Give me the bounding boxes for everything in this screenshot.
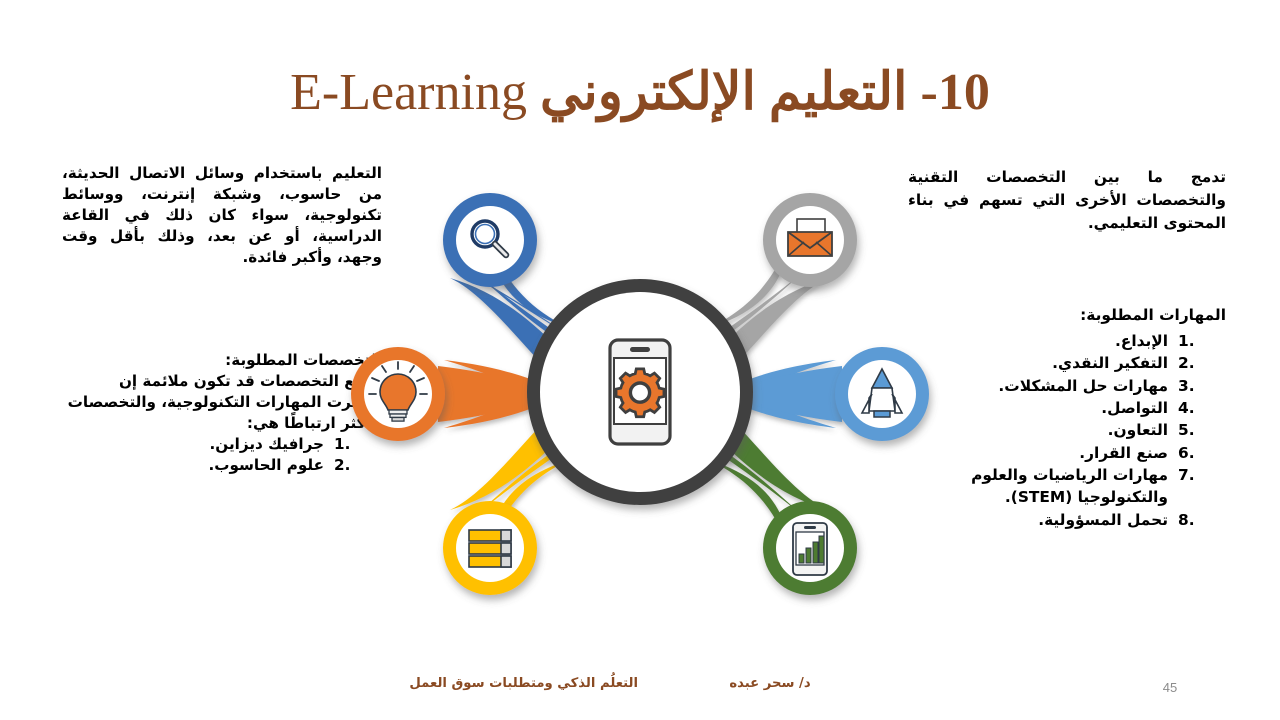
diagram-hub[interactable]: [527, 279, 753, 505]
required-skills-block: 1. الإبداع. 2. التفكير النقدي. 3. مهارات…: [908, 330, 1226, 531]
list-item-label: الإبداع.: [908, 330, 1168, 352]
required-majors-intro: جميع التخصصات قد تكون ملائمة إن توافرت ا…: [62, 371, 382, 434]
page-title: 10- التعليم الإلكتروني E-Learning: [0, 62, 1280, 122]
required-skills-list: 1. الإبداع. 2. التفكير النقدي. 3. مهارات…: [908, 330, 1226, 531]
list-item-number: 6.: [1178, 442, 1218, 464]
list-item-number: 1.: [1178, 330, 1218, 352]
list-item-label: مهارات الرياضيات والعلوم والتكنولوجيا (S…: [908, 464, 1168, 509]
elearning-definition-paragraph: التعليم باستخدام وسائل الاتصال الحديثة، …: [62, 163, 382, 268]
diagram-node-analytics[interactable]: [763, 501, 857, 595]
diagram-node-magnifier[interactable]: [443, 193, 537, 287]
list-item: 5. التعاون.: [908, 419, 1226, 441]
server-stack-icon: [469, 530, 511, 567]
diagram-node-rocket[interactable]: [835, 347, 929, 441]
elearning-hub-spoke-diagram: [338, 166, 942, 622]
list-item-label: التواصل.: [908, 397, 1168, 419]
list-item-label: علوم الحاسوب.: [62, 455, 324, 476]
list-item: 2. علوم الحاسوب.: [62, 455, 382, 476]
required-majors-heading: التخصصات المطلوبة:: [62, 350, 382, 371]
list-item: 8. تحمل المسؤولية.: [908, 509, 1226, 531]
page-title-latin: E-Learning: [290, 64, 527, 121]
diagram-node-mail[interactable]: [763, 193, 857, 287]
gear-shape: [616, 369, 664, 417]
smartphone-gear-icon: [610, 340, 670, 444]
list-item: 2. التفكير النقدي.: [908, 352, 1226, 374]
list-item-label: جرافيك ديزاين.: [62, 434, 324, 455]
list-item: 1. جرافيك ديزاين.: [62, 434, 382, 455]
diagram-node-idea[interactable]: [351, 347, 445, 441]
footer-left-text: التعلُم الذكي ومتطلبات سوق العمل: [388, 676, 638, 691]
list-item: 3. مهارات حل المشكلات.: [908, 375, 1226, 397]
list-item: 4. التواصل.: [908, 397, 1226, 419]
list-item: 1. الإبداع.: [908, 330, 1226, 352]
page-title-arabic: 10- التعليم الإلكتروني: [540, 64, 990, 121]
integration-paragraph: تدمج ما بين التخصصات التقنية والتخصصات ا…: [908, 166, 1226, 234]
list-item-label: التعاون.: [908, 419, 1168, 441]
list-item: 6. صنع القرار.: [908, 442, 1226, 464]
phone-bar-chart-icon: [793, 523, 827, 575]
list-item-number: 5.: [1178, 419, 1218, 441]
list-item-number: 3.: [1178, 375, 1218, 397]
list-item: 7. مهارات الرياضيات والعلوم والتكنولوجيا…: [908, 464, 1226, 509]
page-number: 45: [1140, 680, 1200, 695]
list-item-number: 7.: [1178, 464, 1218, 486]
required-majors-block: التخصصات المطلوبة: جميع التخصصات قد تكون…: [62, 350, 382, 476]
required-majors-list: 1. جرافيك ديزاين. 2. علوم الحاسوب.: [62, 434, 382, 476]
required-skills-heading: المهارات المطلوبة:: [908, 306, 1226, 324]
list-item-label: تحمل المسؤولية.: [908, 509, 1168, 531]
list-item-number: 8.: [1178, 509, 1218, 531]
list-item-number: 2.: [1178, 352, 1218, 374]
list-item-label: مهارات حل المشكلات.: [908, 375, 1168, 397]
list-item-label: صنع القرار.: [908, 442, 1168, 464]
list-item-label: التفكير النقدي.: [908, 352, 1168, 374]
footer-author: د/ سحر عبده: [690, 676, 850, 691]
list-item-number: 4.: [1178, 397, 1218, 419]
diagram-node-server[interactable]: [443, 501, 537, 595]
